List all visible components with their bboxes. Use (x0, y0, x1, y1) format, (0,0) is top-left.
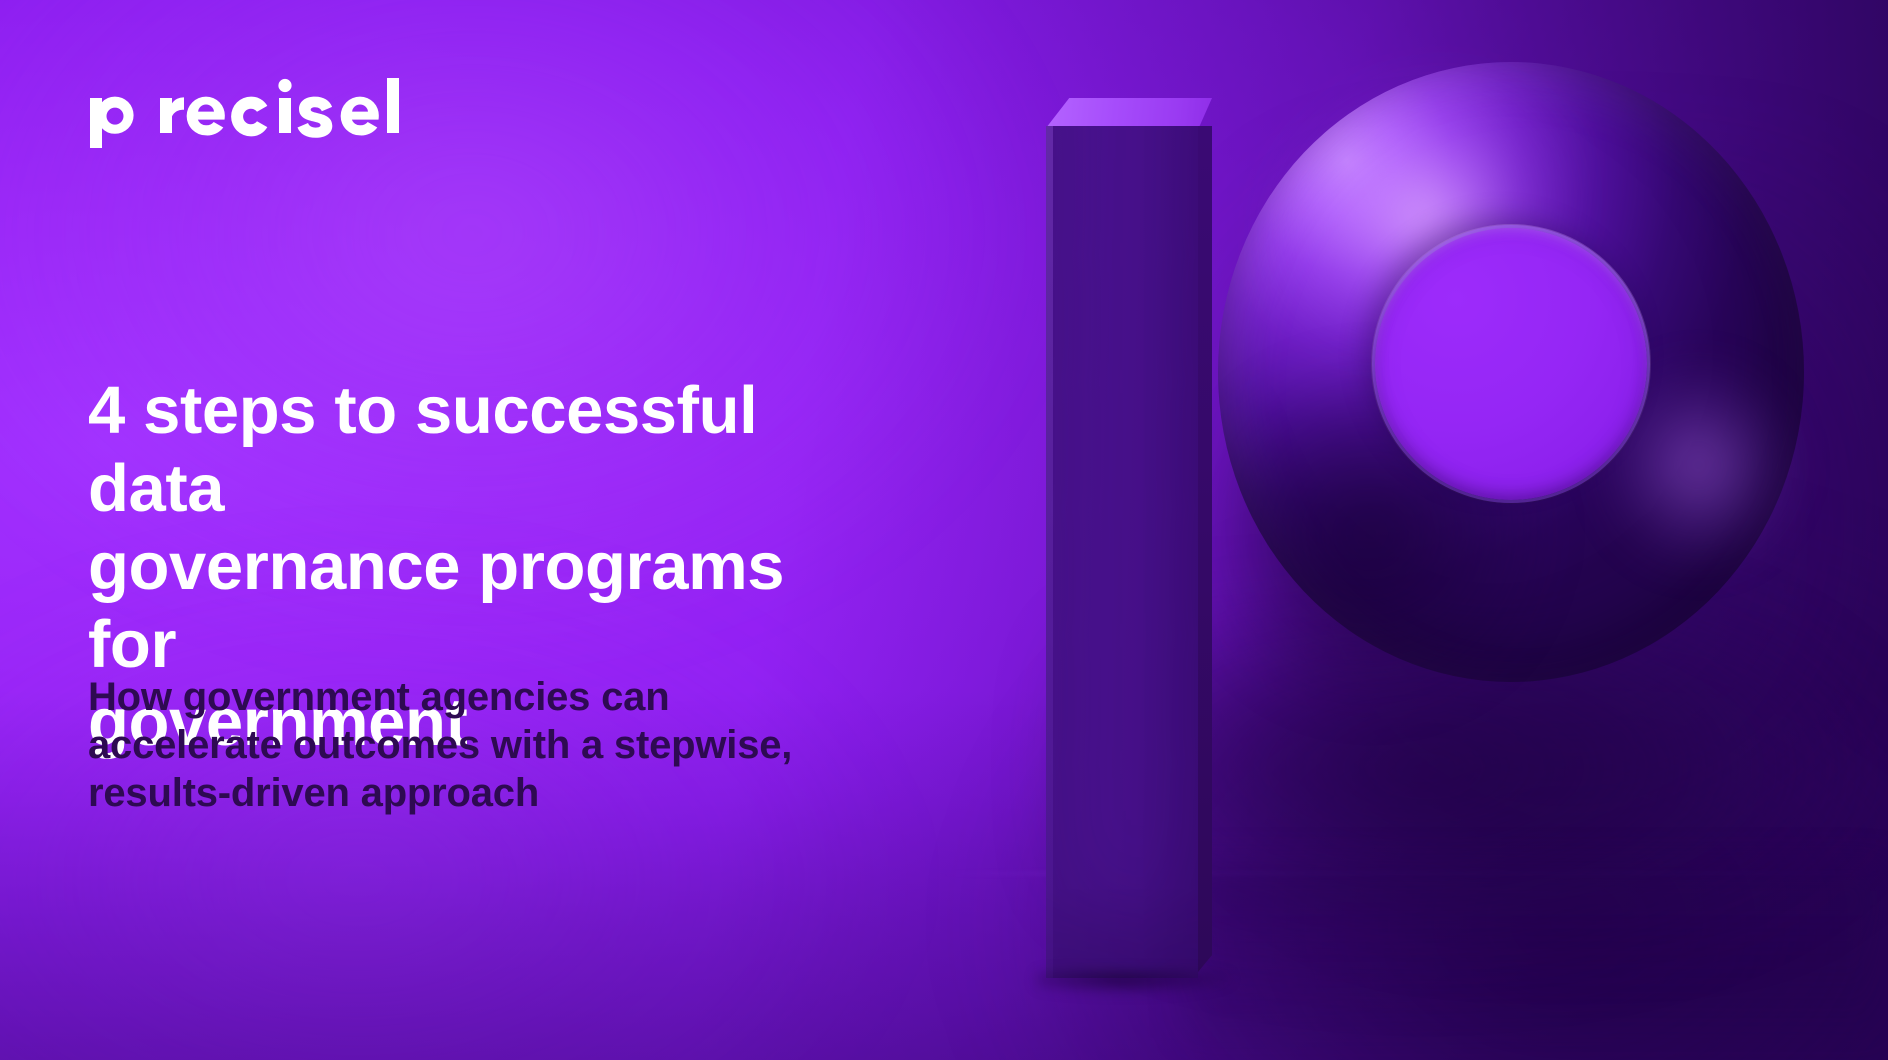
page-subtitle: How government agencies can accelerate o… (88, 673, 848, 817)
precisely-logo[interactable] (88, 76, 408, 146)
cover-slide: 4 steps to successful data governance pr… (0, 0, 1888, 1060)
cover-content: 4 steps to successful data governance pr… (0, 0, 1888, 1060)
